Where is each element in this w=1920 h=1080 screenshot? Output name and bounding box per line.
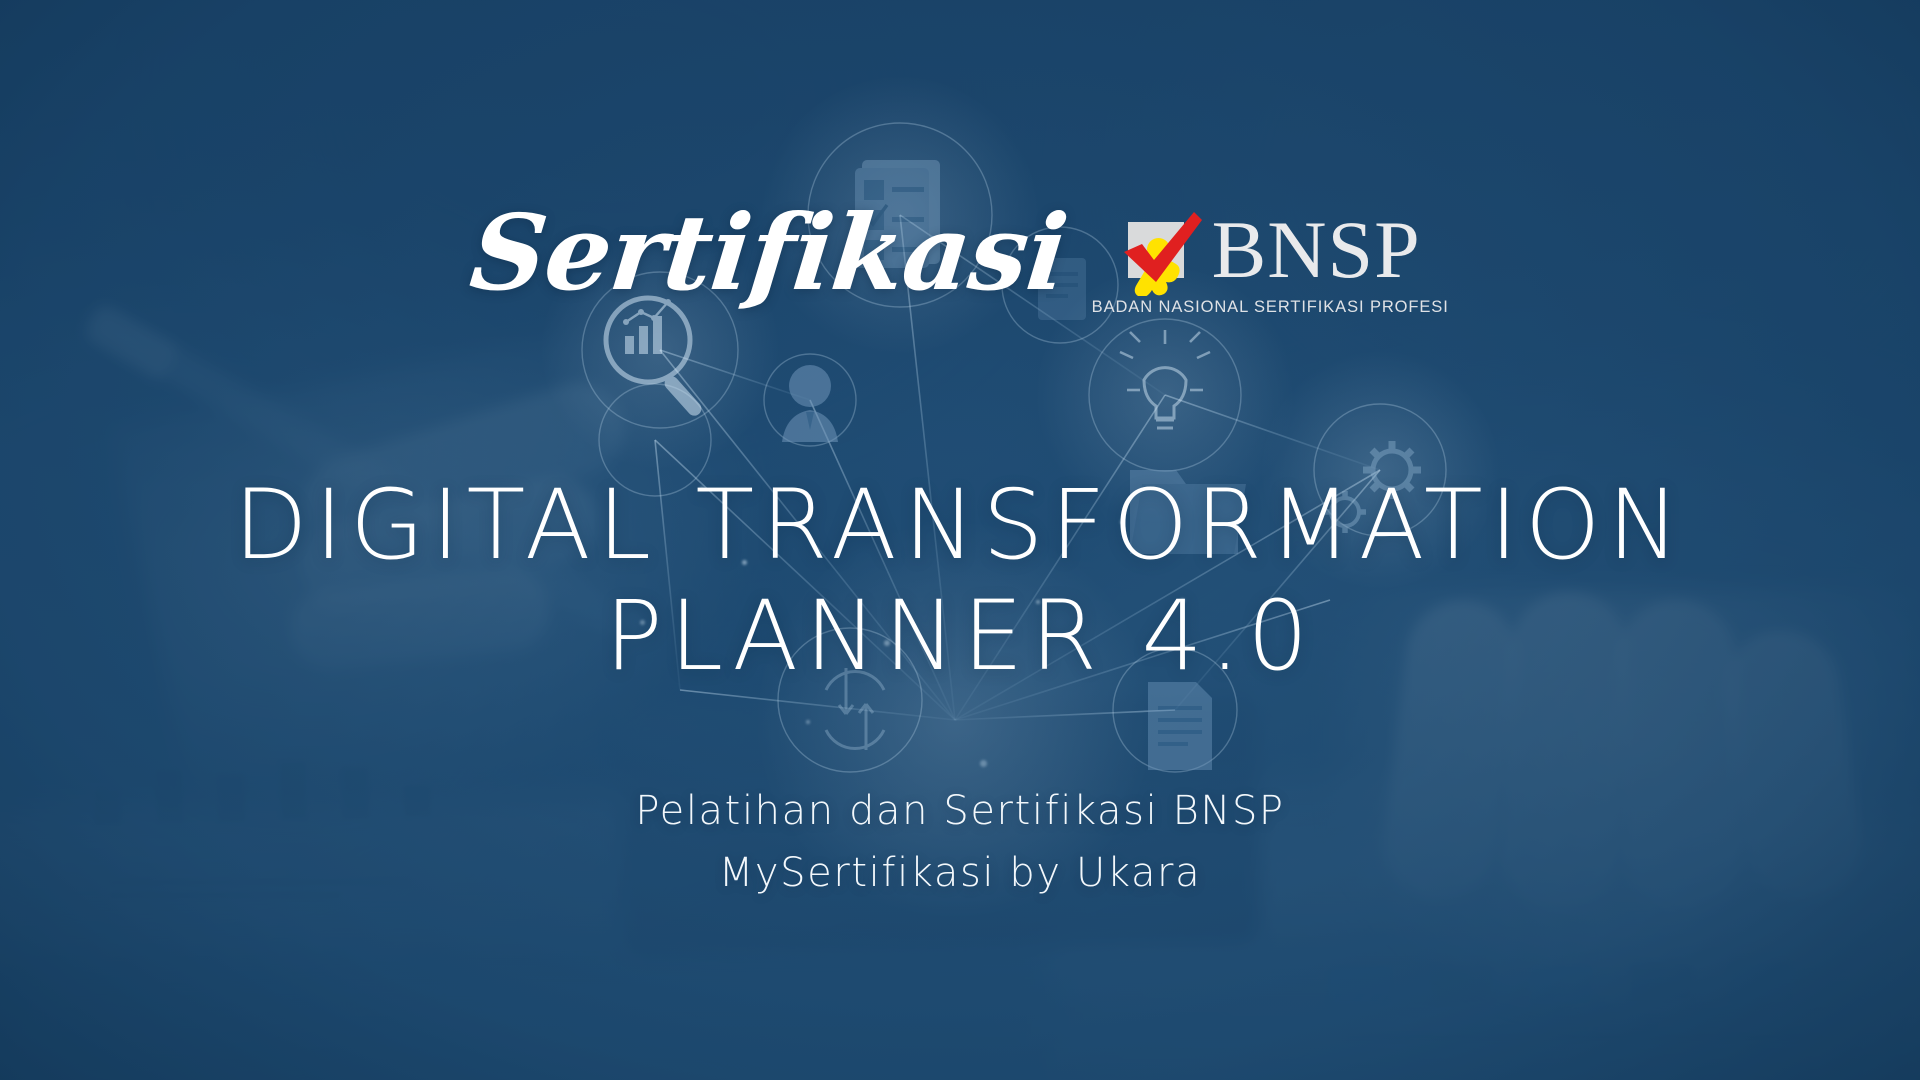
title-slide: Sertifikasi BNSP BADAN	[0, 0, 1920, 1080]
bnsp-wordmark: BNSP	[1212, 212, 1421, 287]
bnsp-tagline: BADAN NASIONAL SERTIFIKASI PROFESI	[1092, 298, 1449, 317]
bnsp-logo-mark	[1120, 204, 1206, 296]
subtitle-line-2: MySertifikasi by Ukara	[0, 842, 1920, 904]
subtitle: Pelatihan dan Sertifikasi BNSP MySertifi…	[0, 780, 1920, 904]
title-line-1: DIGITAL TRANSFORMATION	[234, 469, 1687, 581]
subtitle-line-1: Pelatihan dan Sertifikasi BNSP	[0, 780, 1920, 842]
sertifikasi-script-wordmark: Sertifikasi	[465, 201, 1071, 315]
brand-lockup: Sertifikasi BNSP BADAN	[0, 198, 1920, 317]
bnsp-logo: BNSP BADAN NASIONAL SERTIFIKASI PROFESI	[1092, 204, 1449, 317]
title-line-2: PLANNER 4.0	[0, 581, 1920, 692]
page-title: DIGITAL TRANSFORMATION PLANNER 4.0	[0, 470, 1920, 693]
